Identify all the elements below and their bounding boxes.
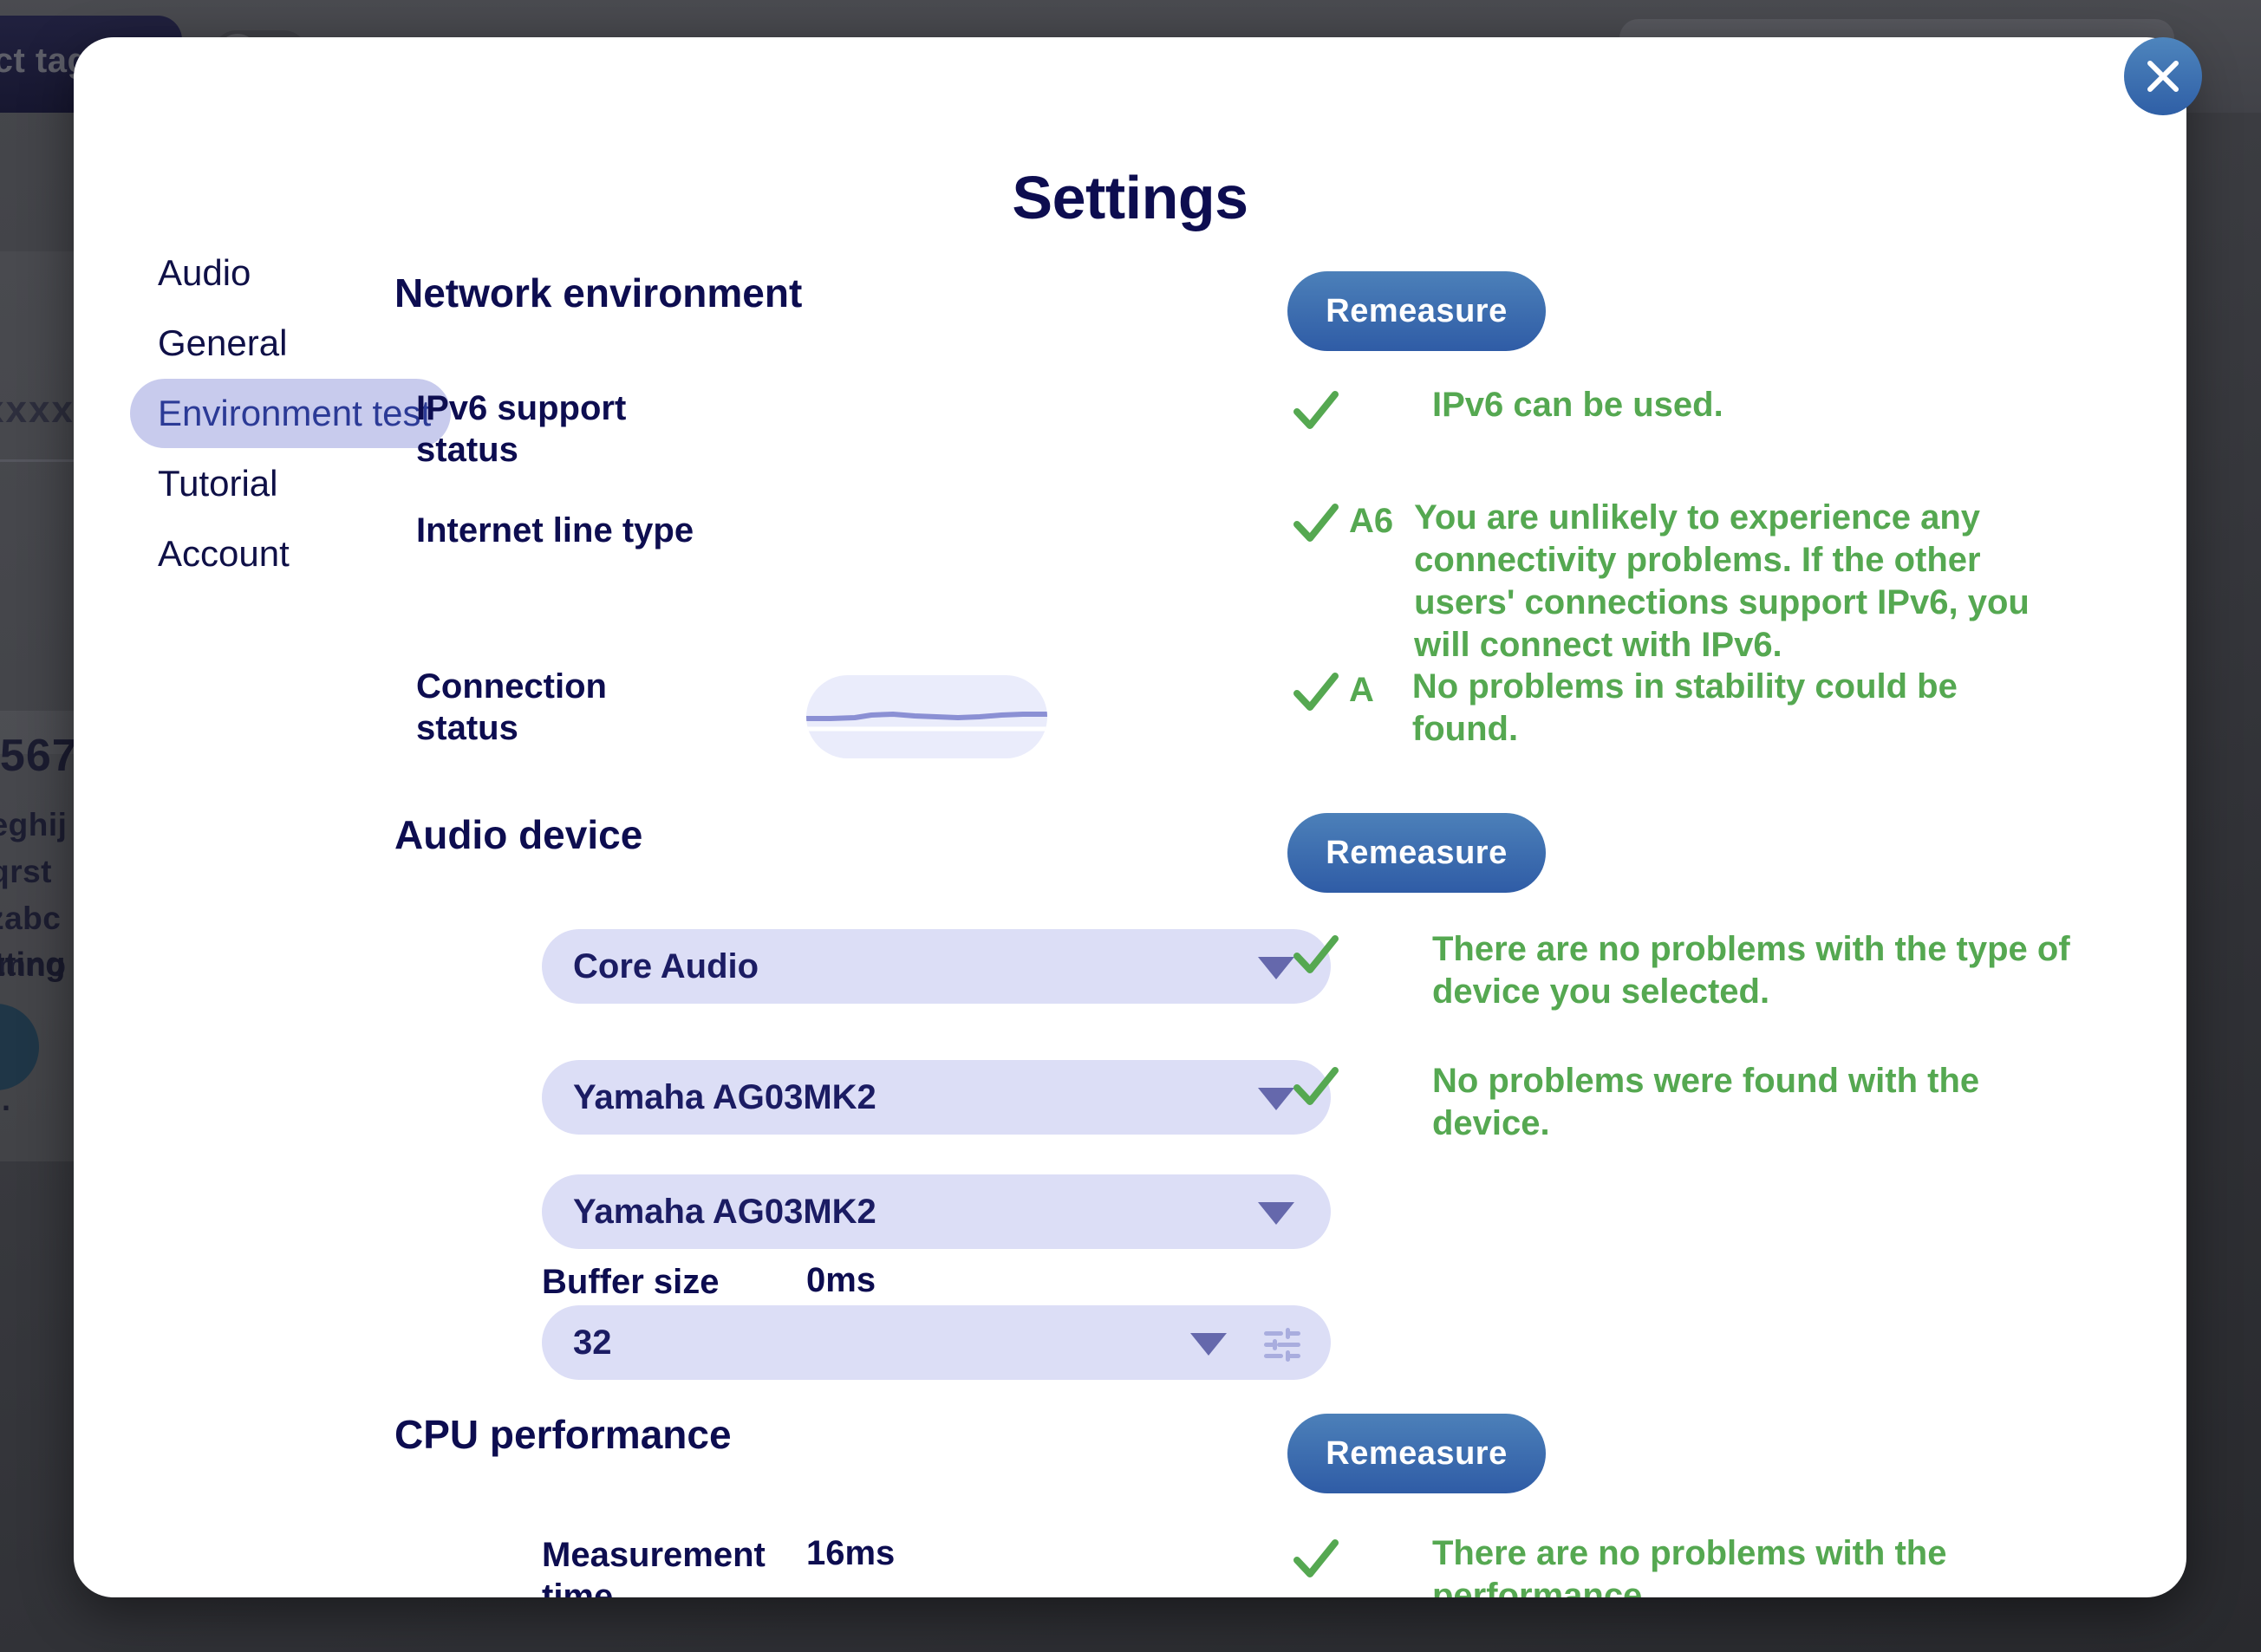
section-title-audio-device: Audio device <box>394 811 642 858</box>
settings-modal: Settings Audio General Environment test … <box>74 37 2186 1597</box>
status-ipv6: IPv6 can be used. <box>1292 384 2072 436</box>
audio-driver-select[interactable]: Core Audio <box>542 929 1331 1004</box>
status-message: There are no problems with the performan… <box>1432 1532 2115 1597</box>
status-line-type: A6 You are unlikely to experience any co… <box>1292 497 2072 667</box>
measurement-time-value: 16ms <box>806 1534 895 1573</box>
remeasure-button-cpu[interactable]: Remeasure <box>1287 1414 1546 1493</box>
status-performance: There are no problems with the performan… <box>1292 1532 2115 1597</box>
audio-output-device-value: Yamaha AG03MK2 <box>573 1174 876 1249</box>
check-icon <box>1292 1063 1340 1112</box>
audio-input-device-value: Yamaha AG03MK2 <box>573 1060 876 1135</box>
buffer-latency-value: 0ms <box>806 1261 876 1300</box>
status-device-check: No problems were found with the device. <box>1292 1060 2072 1145</box>
check-icon <box>1292 500 1340 549</box>
status-message: You are unlikely to experience any conne… <box>1414 497 2072 667</box>
chevron-down-icon <box>1258 1202 1294 1225</box>
label-buffer-size: Buffer size <box>542 1261 802 1303</box>
status-message: No problems in stability could be found. <box>1412 666 2072 751</box>
status-message: IPv6 can be used. <box>1432 384 1723 426</box>
label-connection-status: Connection status <box>416 666 702 749</box>
status-stability: A No problems in stability could be foun… <box>1292 666 2072 751</box>
audio-output-device-select[interactable]: Yamaha AG03MK2 <box>542 1174 1331 1249</box>
check-icon <box>1292 669 1340 718</box>
sparkline-graph <box>806 675 1047 758</box>
remeasure-button-audio[interactable]: Remeasure <box>1287 813 1546 893</box>
remeasure-button-network[interactable]: Remeasure <box>1287 271 1546 351</box>
section-title-network: Network environment <box>394 270 802 316</box>
check-icon <box>1292 932 1340 980</box>
status-grade-badge: A <box>1349 666 1374 714</box>
chevron-down-icon <box>1258 957 1294 979</box>
status-message: No problems were found with the device. <box>1432 1060 2072 1145</box>
sliders-icon[interactable] <box>1263 1328 1301 1363</box>
connection-status-sparkline <box>806 675 1047 758</box>
buffer-size-value: 32 <box>573 1305 612 1380</box>
label-measurement-time: Measurement time <box>542 1534 828 1597</box>
audio-driver-value: Core Audio <box>573 929 759 1004</box>
background-ellipsis: ... <box>0 1082 10 1118</box>
label-internet-line-type: Internet line type <box>416 510 702 551</box>
label-ipv6-support-status: IPv6 support status <box>416 387 702 471</box>
status-message: There are no problems with the type of d… <box>1432 928 2072 1013</box>
check-icon <box>1292 1536 1340 1584</box>
status-device-type: There are no problems with the type of d… <box>1292 928 2072 1013</box>
background-atting-text: atting <box>0 946 65 984</box>
background-number-text: 4567 <box>0 730 78 782</box>
audio-input-device-select[interactable]: Yamaha AG03MK2 <box>542 1060 1331 1135</box>
status-grade-badge: A6 <box>1349 497 1393 545</box>
settings-content: Network environment Remeasure IPv6 suppo… <box>74 37 2186 1597</box>
chevron-down-icon <box>1258 1088 1294 1110</box>
close-button[interactable] <box>2124 37 2202 115</box>
section-title-cpu-performance: CPU performance <box>394 1411 732 1458</box>
buffer-size-select[interactable]: 32 <box>542 1305 1331 1380</box>
check-icon <box>1292 387 1340 436</box>
close-icon <box>2141 55 2185 98</box>
chevron-down-icon <box>1190 1333 1227 1356</box>
